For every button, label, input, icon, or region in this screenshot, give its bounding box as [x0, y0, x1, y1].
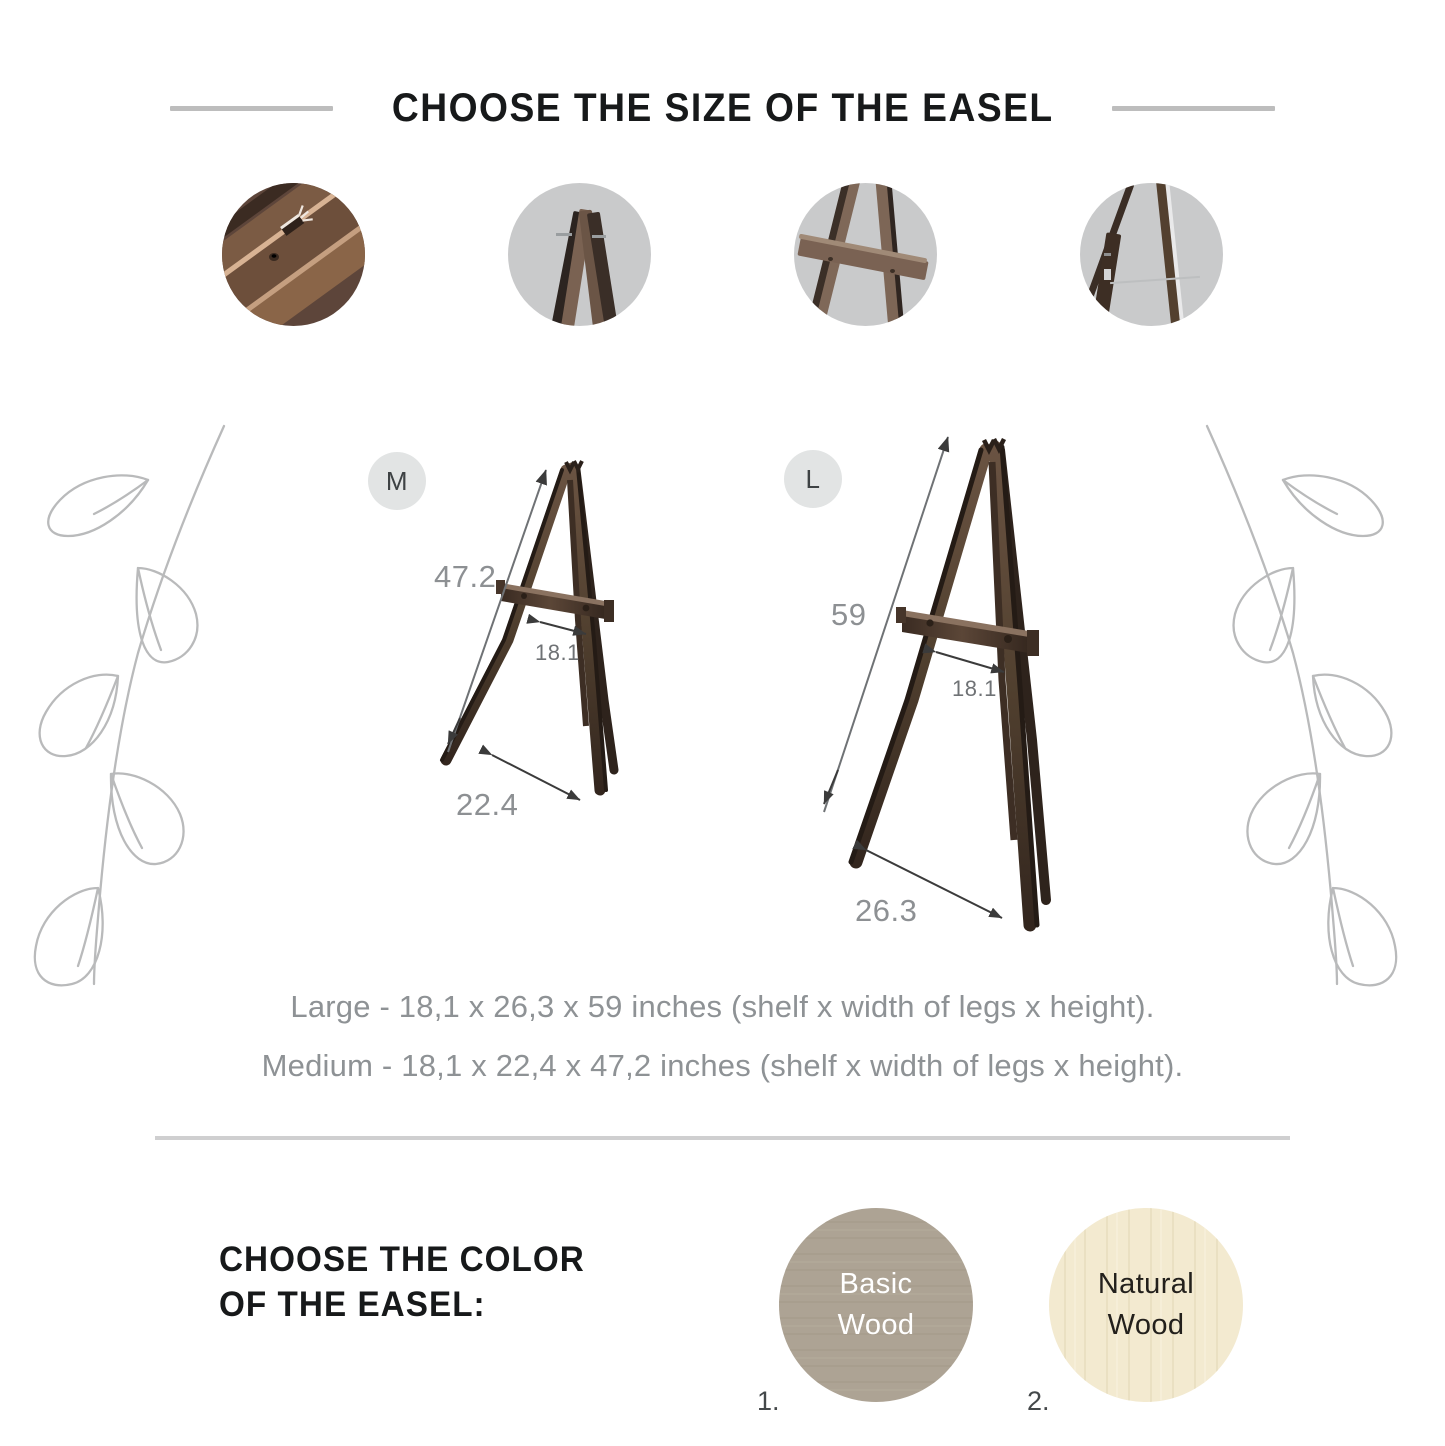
dim-medium-shelf: 18.1 [535, 640, 580, 666]
color-label-basic-line2: Wood [838, 1305, 915, 1346]
easel-large-illustration [824, 437, 1046, 925]
color-number-natural: 2. [1027, 1386, 1050, 1417]
color-section-title: CHOOSE THE COLOR OF THE EASEL: [219, 1238, 585, 1328]
color-option-natural-wood[interactable]: Natural Wood 2. [1049, 1208, 1243, 1402]
color-section-title-line1: CHOOSE THE COLOR [219, 1238, 585, 1283]
color-swatch-natural-wood[interactable]: Natural Wood [1049, 1208, 1243, 1402]
color-number-basic: 1. [757, 1386, 780, 1417]
description-large: Large - 18,1 x 26,3 x 59 inches (shelf x… [0, 989, 1445, 1025]
size-badge-large[interactable]: L [784, 450, 842, 508]
thumbnail-screw-icon [222, 183, 365, 326]
color-label-natural-line1: Natural [1098, 1264, 1194, 1305]
color-swatch-basic-wood[interactable]: Basic Wood [779, 1208, 973, 1402]
size-badge-medium[interactable]: M [368, 452, 426, 510]
section-divider [155, 1136, 1290, 1140]
dim-large-leg-width: 26.3 [855, 893, 917, 929]
dim-medium-height: 47.2 [434, 559, 496, 595]
easel-medium-illustration [442, 461, 614, 800]
description-medium: Medium - 18,1 x 22,4 x 47,2 inches (shel… [0, 1048, 1445, 1084]
thumbnail-shelf-closeup-dark-wood[interactable] [222, 183, 365, 326]
infographic-page: CHOOSE THE SIZE OF THE EASEL [0, 0, 1445, 1446]
dim-large-height: 59 [831, 597, 866, 633]
dim-large-shelf: 18.1 [952, 676, 997, 702]
color-label-natural-line2: Wood [1108, 1305, 1185, 1346]
color-label-basic-line1: Basic [840, 1264, 913, 1305]
color-option-basic-wood[interactable]: Basic Wood 1. [779, 1208, 973, 1402]
color-section-title-line2: OF THE EASEL: [219, 1283, 585, 1328]
dim-medium-leg-width: 22.4 [456, 787, 518, 823]
